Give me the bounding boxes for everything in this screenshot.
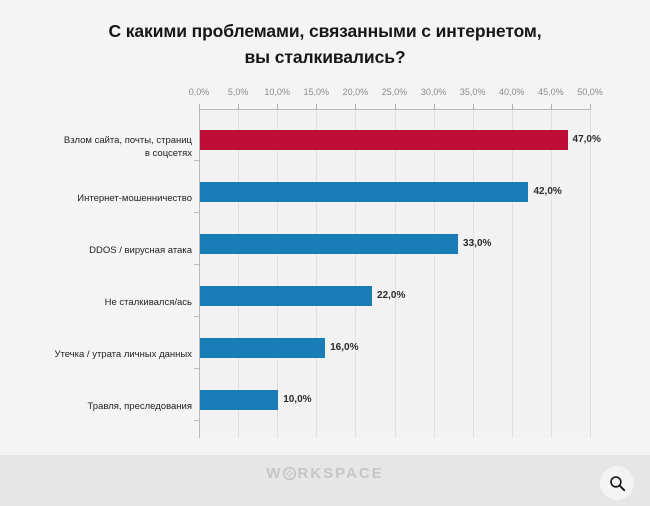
bar[interactable] [200,286,372,306]
bar-row: Интернет-мошенничество42,0% [0,162,650,214]
category-tick [194,264,199,265]
category-label-line: Утечка / утрата личных данных [12,348,192,361]
category-tick [194,160,199,161]
category-label: Взлом сайта, почты, страницв соцсетях [12,134,192,160]
bar-row: Не сталкивался/ась22,0% [0,266,650,318]
workspace-logo-o-icon [283,467,296,480]
category-label-line: Интернет-мошенничество [12,192,192,205]
bar-row: Утечка / утрата личных данных16,0% [0,318,650,370]
chart-title: С какими проблемами, связанными с интерн… [0,18,650,70]
category-tick [194,420,199,421]
category-label: Не сталкивался/ась [12,296,192,309]
category-tick [194,212,199,213]
bar[interactable] [200,130,568,150]
watermark-text-after: RKSPACE [297,465,383,482]
bar-chart: 0,0%5,0%10,0%15,0%20,0%25,0%30,0%35,0%40… [0,86,650,446]
category-tick [194,316,199,317]
category-label-line: Не сталкивался/ась [12,296,192,309]
workspace-watermark: WRKSPACE [0,465,650,482]
category-label: Интернет-мошенничество [12,192,192,205]
bar-value-label: 16,0% [330,338,358,358]
category-label: DDOS / вирусная атака [12,244,192,257]
chart-title-line-2: вы сталкивались? [0,44,650,70]
bar[interactable] [200,234,458,254]
bar-value-label: 47,0% [573,130,601,150]
bar-value-label: 10,0% [283,390,311,410]
footer: WRKSPACE [0,455,650,506]
bar-value-label: 42,0% [533,182,561,202]
category-label-line: Взлом сайта, почты, страниц [12,134,192,147]
watermark-text-before: W [266,465,282,482]
bar-row: Взлом сайта, почты, страницв соцсетях47,… [0,110,650,162]
bar-row: DDOS / вирусная атака33,0% [0,214,650,266]
x-axis-tick-labels: 0,0%5,0%10,0%15,0%20,0%25,0%30,0%35,0%40… [0,86,650,110]
bar-value-label: 33,0% [463,234,491,254]
category-tick [194,368,199,369]
bar-row: Травля, преследования10,0% [0,370,650,422]
category-label: Травля, преследования [12,400,192,413]
chart-page: С какими проблемами, связанными с интерн… [0,0,650,506]
bar[interactable] [200,182,528,202]
category-label-line: в соцсетях [12,147,192,160]
x-tick-label: 50,0% [562,86,618,98]
bar-value-label: 22,0% [377,286,405,306]
search-icon[interactable] [600,466,634,500]
category-label-line: Травля, преследования [12,400,192,413]
chart-title-line-1: С какими проблемами, связанными с интерн… [0,18,650,44]
category-label: Утечка / утрата личных данных [12,348,192,361]
bar[interactable] [200,338,325,358]
category-label-line: DDOS / вирусная атака [12,244,192,257]
bar[interactable] [200,390,278,410]
